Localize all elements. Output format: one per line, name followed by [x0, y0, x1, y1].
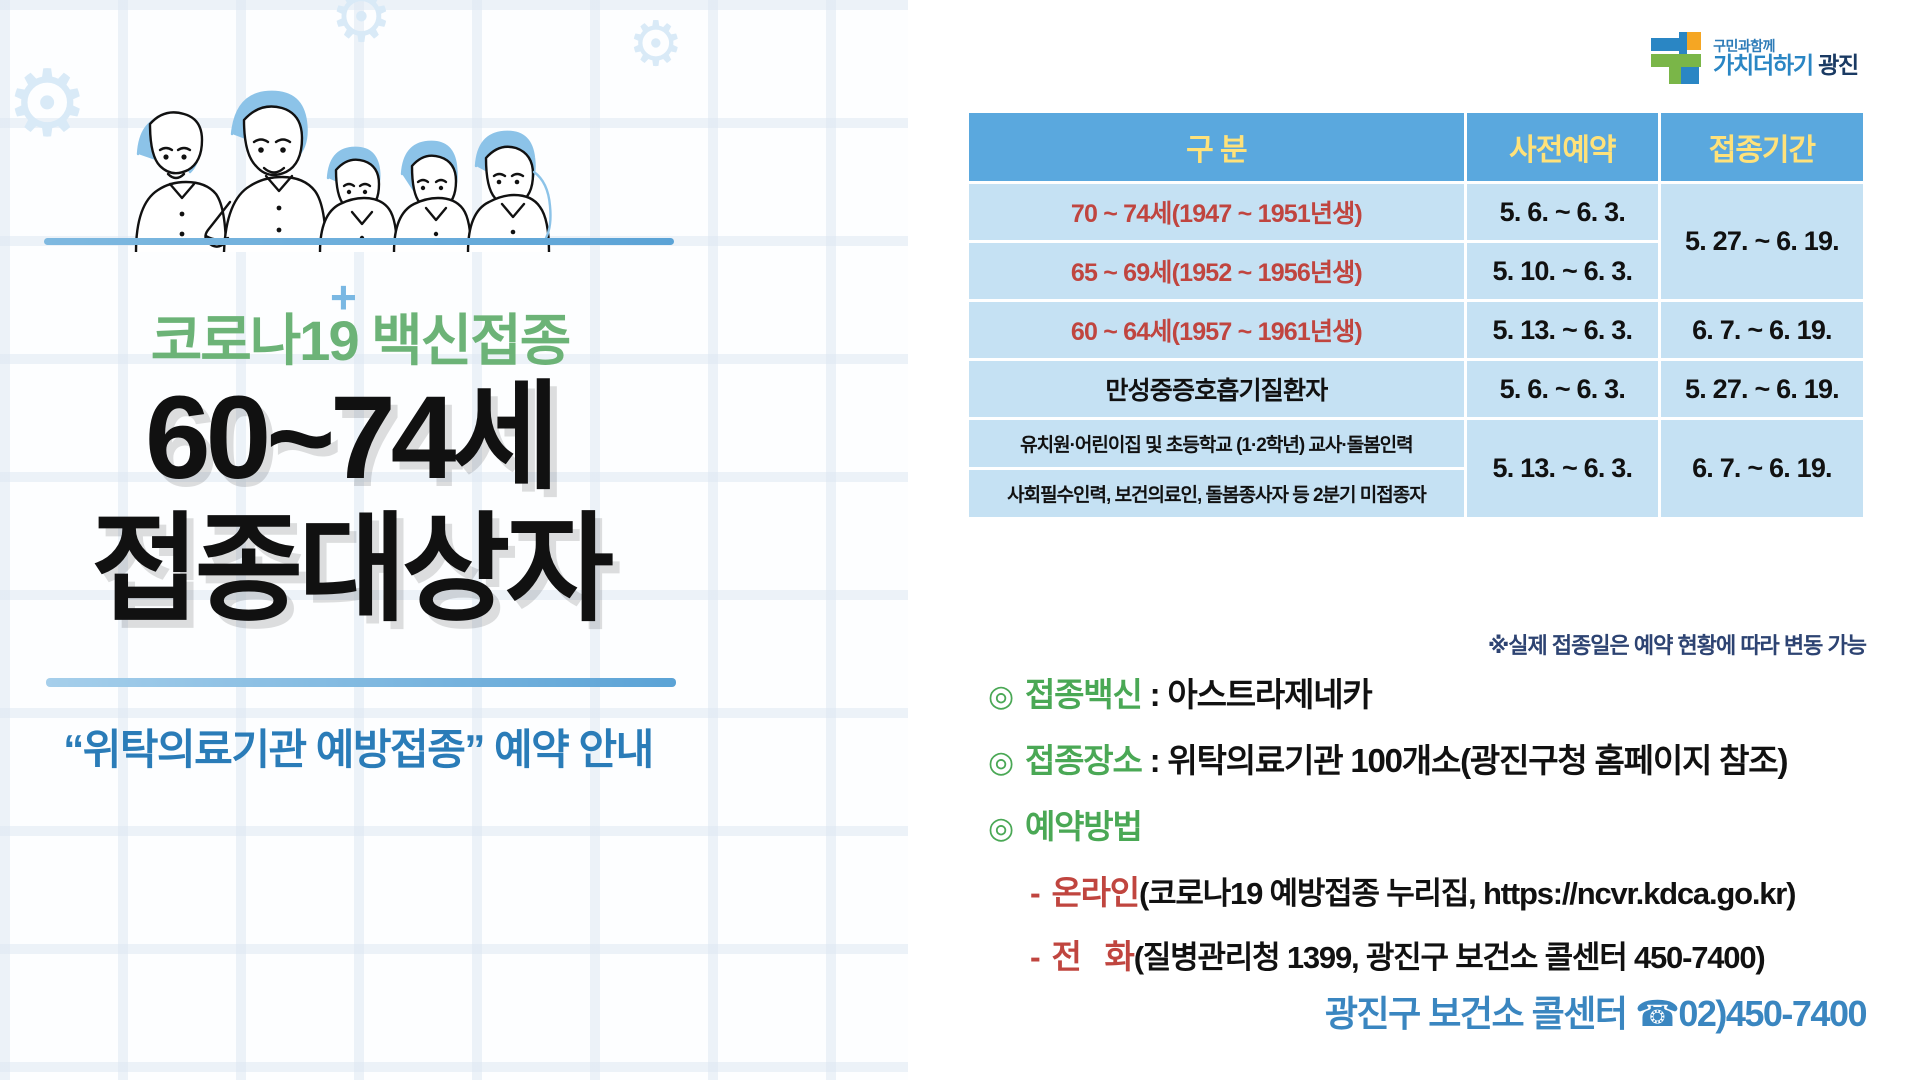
double-circle-bullet-icon: ◎ — [988, 814, 1013, 844]
table-row: 60 ~ 64세(1957 ~ 1961년생) 5. 13. ~ 6. 3. 6… — [969, 302, 1863, 358]
vaccination-poster: ⚙ ⚙ ⚙ — [0, 0, 1920, 1080]
left-panel: ⚙ ⚙ ⚙ — [0, 0, 908, 1080]
cell-reservation: 5. 6. ~ 6. 3. — [1467, 361, 1658, 417]
column-header-category: 구 분 — [969, 113, 1464, 181]
info-colon: : — [1150, 676, 1160, 714]
gwangjin-gu-logo: 구민과함께 가치더하기 광진 — [1649, 30, 1858, 86]
table-row: 70 ~ 74세(1947 ~ 1951년생) 5. 6. ~ 6. 3. 5.… — [969, 184, 1863, 240]
headline-line-1: 60~74세 — [0, 372, 700, 504]
cell-reservation: 5. 6. ~ 6. 3. — [1467, 184, 1658, 240]
dash-bullet-icon: - — [1030, 875, 1039, 912]
info-list: ◎ 접종백신 : 아스트라제네카 ◎ 접종장소 : 위탁의료기관 100개소(광… — [988, 668, 1888, 994]
footer-contact: 광진구 보건소 콜센터 ☎02)450-7400 — [966, 985, 1866, 1037]
cell-period: 6. 7. ~ 6. 19. — [1661, 420, 1863, 517]
sub-label: 전 화 — [1051, 930, 1133, 978]
virus-decoration-icon: ⚙ — [6, 58, 88, 150]
gwangjin-gu-logo-mark — [1649, 30, 1703, 86]
cell-period: 5. 27. ~ 6. 19. — [1661, 361, 1863, 417]
sub-value: (코로나19 예방접종 누리집, https://ncvr.kdca.go.kr… — [1139, 868, 1795, 913]
cell-period: 5. 27. ~ 6. 19. — [1661, 184, 1863, 299]
cell-reservation: 5. 13. ~ 6. 3. — [1467, 420, 1658, 517]
right-panel: 구민과함께 가치더하기 광진 구 분 사전예약 접종기간 70 ~ 74세(19… — [908, 0, 1920, 1080]
info-label: 접종장소 — [1025, 734, 1142, 782]
schedule-table-wrapper: 구 분 사전예약 접종기간 70 ~ 74세(1947 ~ 1951년생) 5.… — [966, 110, 1866, 520]
dash-bullet-icon: - — [1030, 939, 1039, 976]
booking-method-online: - 온라인 (코로나19 예방접종 누리집, https://ncvr.kdca… — [1030, 866, 1888, 914]
page-title: 60~74세 접종대상자 — [0, 372, 700, 636]
column-header-period: 접종기간 — [1661, 113, 1863, 181]
cell-category: 유치원·어린이집 및 초등학교 (1·2학년) 교사·돌봄인력 — [969, 420, 1464, 467]
cell-reservation: 5. 13. ~ 6. 3. — [1467, 302, 1658, 358]
column-header-reservation: 사전예약 — [1467, 113, 1658, 181]
info-value: 아스트라제네카 — [1167, 668, 1371, 716]
cell-category: 60 ~ 64세(1957 ~ 1961년생) — [969, 302, 1464, 358]
booking-method-phone: - 전 화 (질병관리청 1399, 광진구 보건소 콜센터 450-7400) — [1030, 930, 1888, 978]
caption-divider — [46, 678, 676, 687]
cell-category: 65 ~ 69세(1952 ~ 1956년생) — [969, 243, 1464, 299]
logo-title-light: 가치더하기 — [1713, 52, 1818, 78]
schedule-table: 구 분 사전예약 접종기간 70 ~ 74세(1947 ~ 1951년생) 5.… — [966, 110, 1866, 520]
cell-period: 6. 7. ~ 6. 19. — [1661, 302, 1863, 358]
logo-title: 가치더하기 광진 — [1713, 53, 1858, 77]
illustration-underline — [44, 238, 674, 245]
headline-line-2: 접종대상자 — [0, 504, 700, 636]
virus-decoration-icon: ⚙ — [628, 14, 684, 76]
info-item-booking-method: ◎ 예약방법 — [988, 800, 1888, 848]
cell-category: 만성중증호흡기질환자 — [969, 361, 1464, 417]
table-row: 만성중증호흡기질환자 5. 6. ~ 6. 3. 5. 27. ~ 6. 19. — [969, 361, 1863, 417]
caption-text: “위탁의료기관 예방접종” 예약 안내 — [0, 716, 716, 777]
kicker-text: 코로나19 백신접종 — [0, 296, 720, 377]
cell-category: 사회필수인력, 보건의료인, 돌봄종사자 등 2분기 미접종자 — [969, 470, 1464, 517]
cell-category: 70 ~ 74세(1947 ~ 1951년생) — [969, 184, 1464, 240]
table-header-row: 구 분 사전예약 접종기간 — [969, 113, 1863, 181]
sub-label: 온라인 — [1051, 866, 1138, 914]
virus-decoration-icon: ⚙ — [330, 0, 393, 52]
cell-reservation: 5. 10. ~ 6. 3. — [1467, 243, 1658, 299]
sub-value: (질병관리청 1399, 광진구 보건소 콜센터 450-7400) — [1134, 932, 1765, 977]
logo-subtitle: 구민과함께 — [1713, 39, 1858, 54]
info-label: 접종백신 — [1025, 668, 1142, 716]
info-value: 위탁의료기관 100개소(광진구청 홈페이지 참조) — [1167, 734, 1787, 782]
logo-title-dark: 광진 — [1818, 52, 1858, 78]
info-item-location: ◎ 접종장소 : 위탁의료기관 100개소(광진구청 홈페이지 참조) — [988, 734, 1888, 782]
table-row: 유치원·어린이집 및 초등학교 (1·2학년) 교사·돌봄인력 5. 13. ~… — [969, 420, 1863, 467]
people-illustration — [120, 62, 590, 252]
table-note: ※실제 접종일은 예약 현황에 따라 변동 가능 — [966, 628, 1866, 660]
info-colon: : — [1150, 742, 1160, 780]
info-label: 예약방법 — [1025, 800, 1142, 848]
double-circle-bullet-icon: ◎ — [988, 748, 1013, 778]
info-item-vaccine: ◎ 접종백신 : 아스트라제네카 — [988, 668, 1888, 716]
double-circle-bullet-icon: ◎ — [988, 682, 1013, 712]
